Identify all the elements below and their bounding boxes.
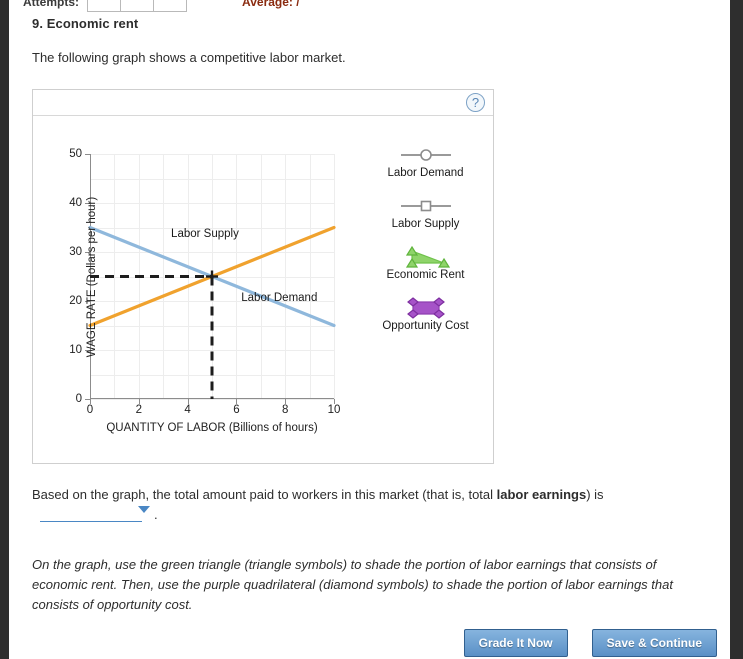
legend-item-labor-supply[interactable]: Labor Supply [363, 195, 488, 230]
legend-item-economic-rent[interactable]: Economic Rent [363, 246, 488, 281]
graph-body[interactable]: 010203040500246810 QUANTITY OF LABOR (Bi… [33, 116, 493, 463]
purple-quadrilateral-tool-icon [363, 297, 488, 319]
attempts-label: Attempts: [23, 0, 79, 9]
graph-legend: Labor Demand Labor Supply [363, 144, 488, 348]
legend-label-labor-supply: Labor Supply [363, 218, 488, 230]
supply-line-label: Labor Supply [171, 228, 239, 240]
save-and-continue-button[interactable]: Save & Continue [592, 629, 717, 657]
prompt-post: ) is [586, 487, 603, 502]
demand-line-label: Labor Demand [241, 292, 317, 304]
page-content: Attempts: Average: / 9. Economic rent Th… [9, 0, 730, 659]
attempts-row: Attempts: Average: / [23, 0, 300, 13]
prompt-text: Based on the graph, the total amount pai… [32, 487, 604, 502]
question-intro: The following graph shows a competitive … [32, 50, 346, 65]
attempt-box-1[interactable] [87, 0, 121, 12]
shading-instructions: On the graph, use the green triangle (tr… [32, 555, 692, 615]
prompt-pre: Based on the graph, the total amount pai… [32, 487, 497, 502]
legend-label-opportunity-cost: Opportunity Cost [363, 320, 488, 332]
x-axis-title: QUANTITY OF LABOR (Billions of hours) [90, 422, 334, 434]
sentence-period: . [154, 507, 158, 522]
prompt-bold: labor earnings [497, 487, 587, 502]
average-label: Average: / [242, 0, 300, 9]
circle-line-marker-icon [363, 144, 488, 166]
grade-it-now-button[interactable]: Grade It Now [464, 629, 568, 657]
graph-panel[interactable]: ? 010203040500246810 QUANTITY OF LABOR ( [32, 89, 494, 464]
square-line-marker-icon [363, 195, 488, 217]
y-axis-title: WAGE RATE (Dollars per hour) [86, 157, 98, 397]
plot-area[interactable]: 010203040500246810 QUANTITY OF LABOR (Bi… [90, 154, 334, 399]
attempt-box-2[interactable] [120, 0, 154, 12]
help-icon[interactable]: ? [466, 93, 485, 112]
legend-label-labor-demand: Labor Demand [363, 167, 488, 179]
green-triangle-tool-icon [363, 246, 488, 268]
series-lines [90, 154, 334, 399]
legend-label-economic-rent: Economic Rent [363, 269, 488, 281]
chevron-down-icon[interactable] [138, 506, 150, 513]
legend-item-opportunity-cost[interactable]: Opportunity Cost [363, 297, 488, 332]
page-title: 9. Economic rent [32, 16, 138, 31]
graph-toolbar: ? [33, 90, 493, 116]
labor-earnings-dropdown-wrap: . [40, 505, 158, 522]
attempt-box-3[interactable] [153, 0, 187, 12]
legend-item-labor-demand[interactable]: Labor Demand [363, 144, 488, 179]
button-row: Grade It Now Save & Continue [464, 629, 717, 657]
labor-earnings-dropdown[interactable] [40, 505, 142, 522]
